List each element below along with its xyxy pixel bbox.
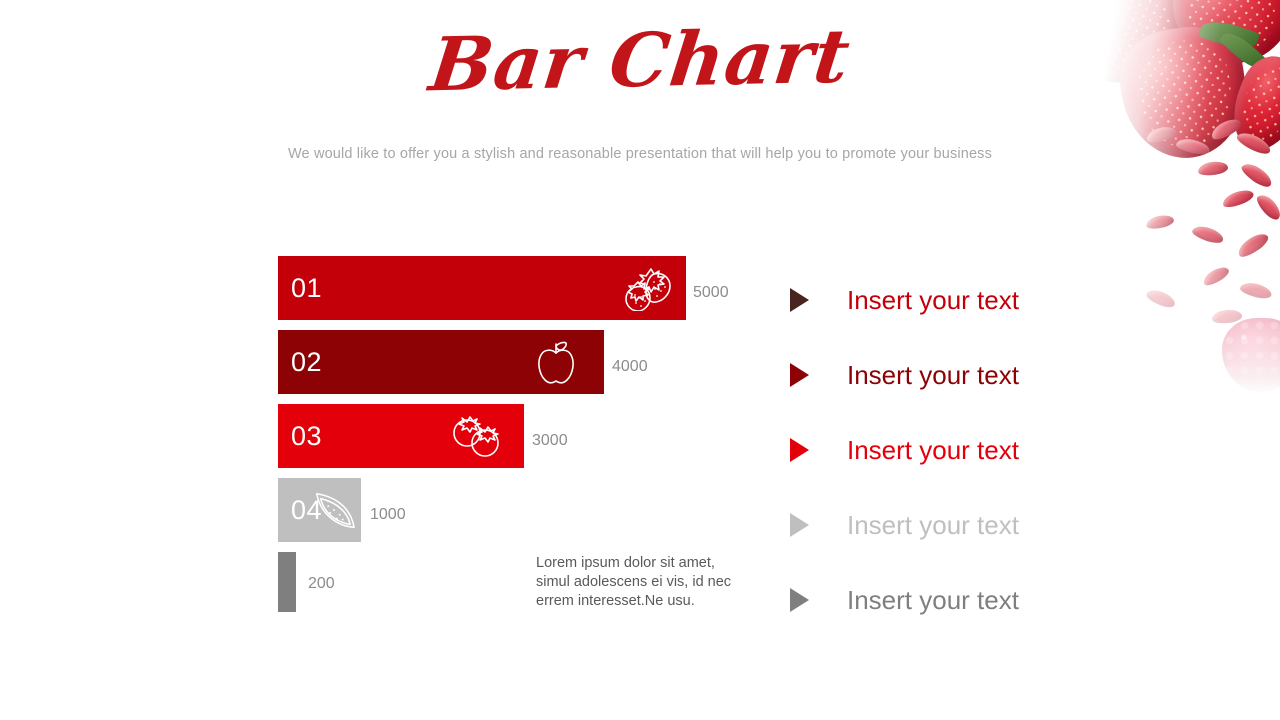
bar-value: 3000 xyxy=(532,432,568,450)
bar-number: 03 xyxy=(291,423,322,450)
bar-row: 200 Lorem ipsum dolor sit amet, simul ad… xyxy=(278,552,738,616)
goji-berry xyxy=(1191,223,1225,245)
goji-berry xyxy=(1221,187,1256,210)
play-triangle-icon xyxy=(790,438,809,462)
bar-row: 03 3000 xyxy=(278,404,738,478)
goji-berry xyxy=(1209,115,1244,142)
strawberries-icon xyxy=(624,265,676,311)
play-triangle-icon xyxy=(790,513,809,537)
tomatoes-icon xyxy=(450,413,502,459)
legend-item-5[interactable]: Insert your text xyxy=(790,562,1090,637)
bar-row: 01 5000 xyxy=(278,256,738,330)
page-title: Bar Chart xyxy=(0,11,1280,112)
goji-berry xyxy=(1145,287,1178,310)
goji-berry xyxy=(1239,160,1275,191)
page-subtitle: We would like to offer you a stylish and… xyxy=(0,146,1280,162)
goji-berry xyxy=(1211,308,1242,324)
goji-berry xyxy=(1235,230,1271,261)
bar-number: 01 xyxy=(291,275,322,302)
legend-item-2[interactable]: Insert your text xyxy=(790,337,1090,412)
play-triangle-icon xyxy=(790,363,809,387)
legend-item-label: Insert your text xyxy=(847,512,1019,538)
bar-number: 02 xyxy=(291,349,322,376)
legend-item-label: Insert your text xyxy=(847,287,1019,313)
bar-value: 1000 xyxy=(370,506,406,524)
bar-chart: 01 5000 xyxy=(278,256,738,616)
goji-berry xyxy=(1145,124,1177,145)
legend-item-3[interactable]: Insert your text xyxy=(790,412,1090,487)
bar-01[interactable]: 01 xyxy=(278,256,686,320)
bar-05[interactable] xyxy=(278,552,296,612)
bar-value: 4000 xyxy=(612,358,648,376)
bar-note-text: Lorem ipsum dolor sit amet, simul adoles… xyxy=(536,554,751,611)
bar-value: 5000 xyxy=(693,284,729,302)
legend-item-label: Insert your text xyxy=(847,437,1019,463)
bar-row: 02 4000 xyxy=(278,330,738,404)
goji-berry xyxy=(1145,213,1175,231)
bar-04[interactable]: 04 xyxy=(278,478,361,542)
legend-item-label: Insert your text xyxy=(847,362,1019,388)
bar-value: 200 xyxy=(308,575,335,593)
apple-icon xyxy=(530,339,582,385)
legend-list: Insert your text Insert your text Insert… xyxy=(790,262,1090,637)
legend-item-4[interactable]: Insert your text xyxy=(790,487,1090,562)
play-triangle-icon xyxy=(790,288,809,312)
bar-03[interactable]: 03 xyxy=(278,404,524,468)
goji-berry xyxy=(1201,264,1231,288)
legend-item-1[interactable]: Insert your text xyxy=(790,262,1090,337)
goji-berry xyxy=(1239,280,1273,300)
play-triangle-icon xyxy=(790,588,809,612)
goji-berry xyxy=(1197,160,1229,177)
legend-item-label: Insert your text xyxy=(847,587,1019,613)
watermelon-slice-icon xyxy=(309,488,359,532)
goji-berry xyxy=(1254,191,1280,223)
bar-row: 04 1000 xyxy=(278,478,738,552)
raspberry-photo xyxy=(1222,318,1280,392)
bar-02[interactable]: 02 xyxy=(278,330,604,394)
strawberry-leaf xyxy=(1055,0,1104,16)
